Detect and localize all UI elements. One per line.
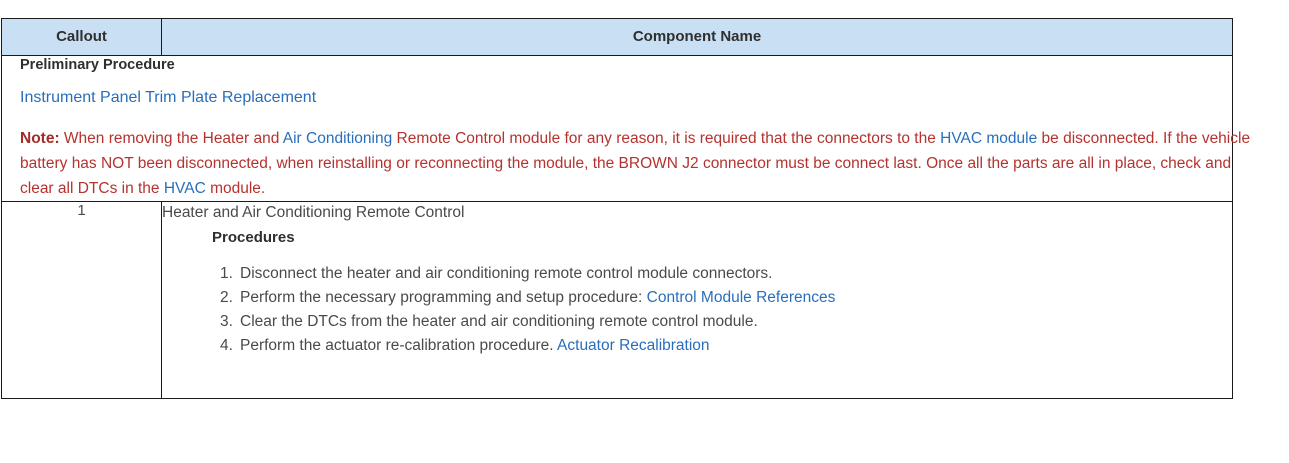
note-segment-2: Remote Control module for any reason, it…: [392, 130, 940, 147]
column-header-callout: Callout: [2, 19, 162, 56]
table-header-row: Callout Component Name: [2, 19, 1233, 56]
link-actuator-recalibration[interactable]: Actuator Recalibration: [557, 337, 710, 354]
preliminary-procedure-cell: Preliminary Procedure Instrument Panel T…: [2, 56, 1233, 202]
note-segment-4: module.: [206, 180, 265, 197]
list-item: Clear the DTCs from the heater and air c…: [220, 310, 1232, 334]
link-hvac-module[interactable]: HVAC module: [940, 130, 1037, 147]
list-item: Disconnect the heater and air conditioni…: [220, 262, 1232, 286]
link-hvac[interactable]: HVAC: [164, 180, 206, 197]
list-item: Perform the actuator re-calibration proc…: [220, 334, 1232, 358]
note-paragraph: Note: When removing the Heater and Air C…: [2, 126, 1258, 201]
service-procedure-sheet: Callout Component Name Preliminary Proce…: [0, 0, 1289, 463]
column-header-component-name: Component Name: [162, 19, 1233, 56]
component-detail-cell: Heater and Air Conditioning Remote Contr…: [162, 202, 1233, 399]
preliminary-procedure-row: Preliminary Procedure Instrument Panel T…: [2, 56, 1233, 202]
note-label: Note:: [20, 130, 60, 147]
link-instrument-panel-trim-plate-replacement[interactable]: Instrument Panel Trim Plate Replacement: [2, 88, 1232, 108]
link-air-conditioning[interactable]: Air Conditioning: [283, 130, 392, 147]
list-item: Perform the necessary programming and se…: [220, 286, 1232, 310]
table-row: 1 Heater and Air Conditioning Remote Con…: [2, 202, 1233, 399]
procedures-heading: Procedures: [162, 228, 1232, 248]
link-control-module-references[interactable]: Control Module References: [647, 289, 836, 306]
component-name-text: Heater and Air Conditioning Remote Contr…: [162, 202, 1232, 224]
step-text: Perform the actuator re-calibration proc…: [240, 337, 557, 354]
step-text: Clear the DTCs from the heater and air c…: [240, 313, 758, 330]
preliminary-procedure-title: Preliminary Procedure: [2, 56, 1232, 74]
step-text: Perform the necessary programming and se…: [240, 289, 647, 306]
component-callout-table: Callout Component Name Preliminary Proce…: [1, 18, 1233, 399]
procedure-steps-list: Disconnect the heater and air conditioni…: [162, 262, 1232, 358]
step-text: Disconnect the heater and air conditioni…: [240, 265, 772, 282]
callout-number: 1: [2, 202, 162, 399]
note-segment-1: When removing the Heater and: [60, 130, 283, 147]
